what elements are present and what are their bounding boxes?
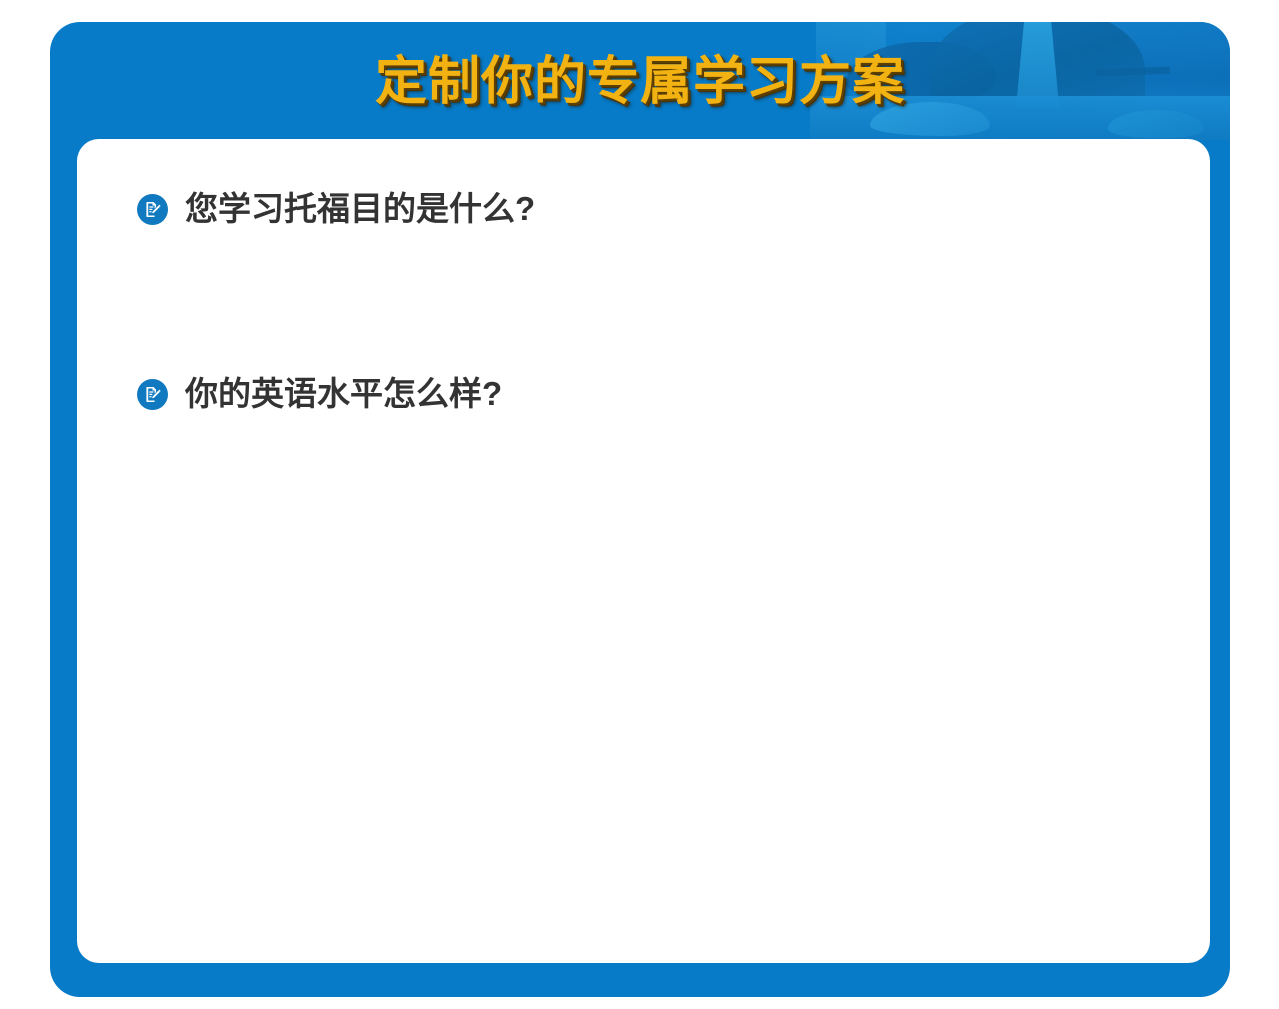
course-plan-card: 定制你的专属学习方案 您学习托福目的是什么? [50,22,1230,997]
document-pencil-icon [137,379,168,410]
question-row-purpose[interactable]: 您学习托福目的是什么? [137,189,535,229]
question-label: 你的英语水平怎么样? [185,374,502,414]
question-label: 您学习托福目的是什么? [185,189,535,229]
page-title: 定制你的专属学习方案 [50,49,1230,115]
question-row-english-level[interactable]: 你的英语水平怎么样? [137,374,502,414]
questions-panel: 您学习托福目的是什么? 你的英语水平怎么样? [77,139,1210,963]
document-pencil-icon [137,194,168,225]
